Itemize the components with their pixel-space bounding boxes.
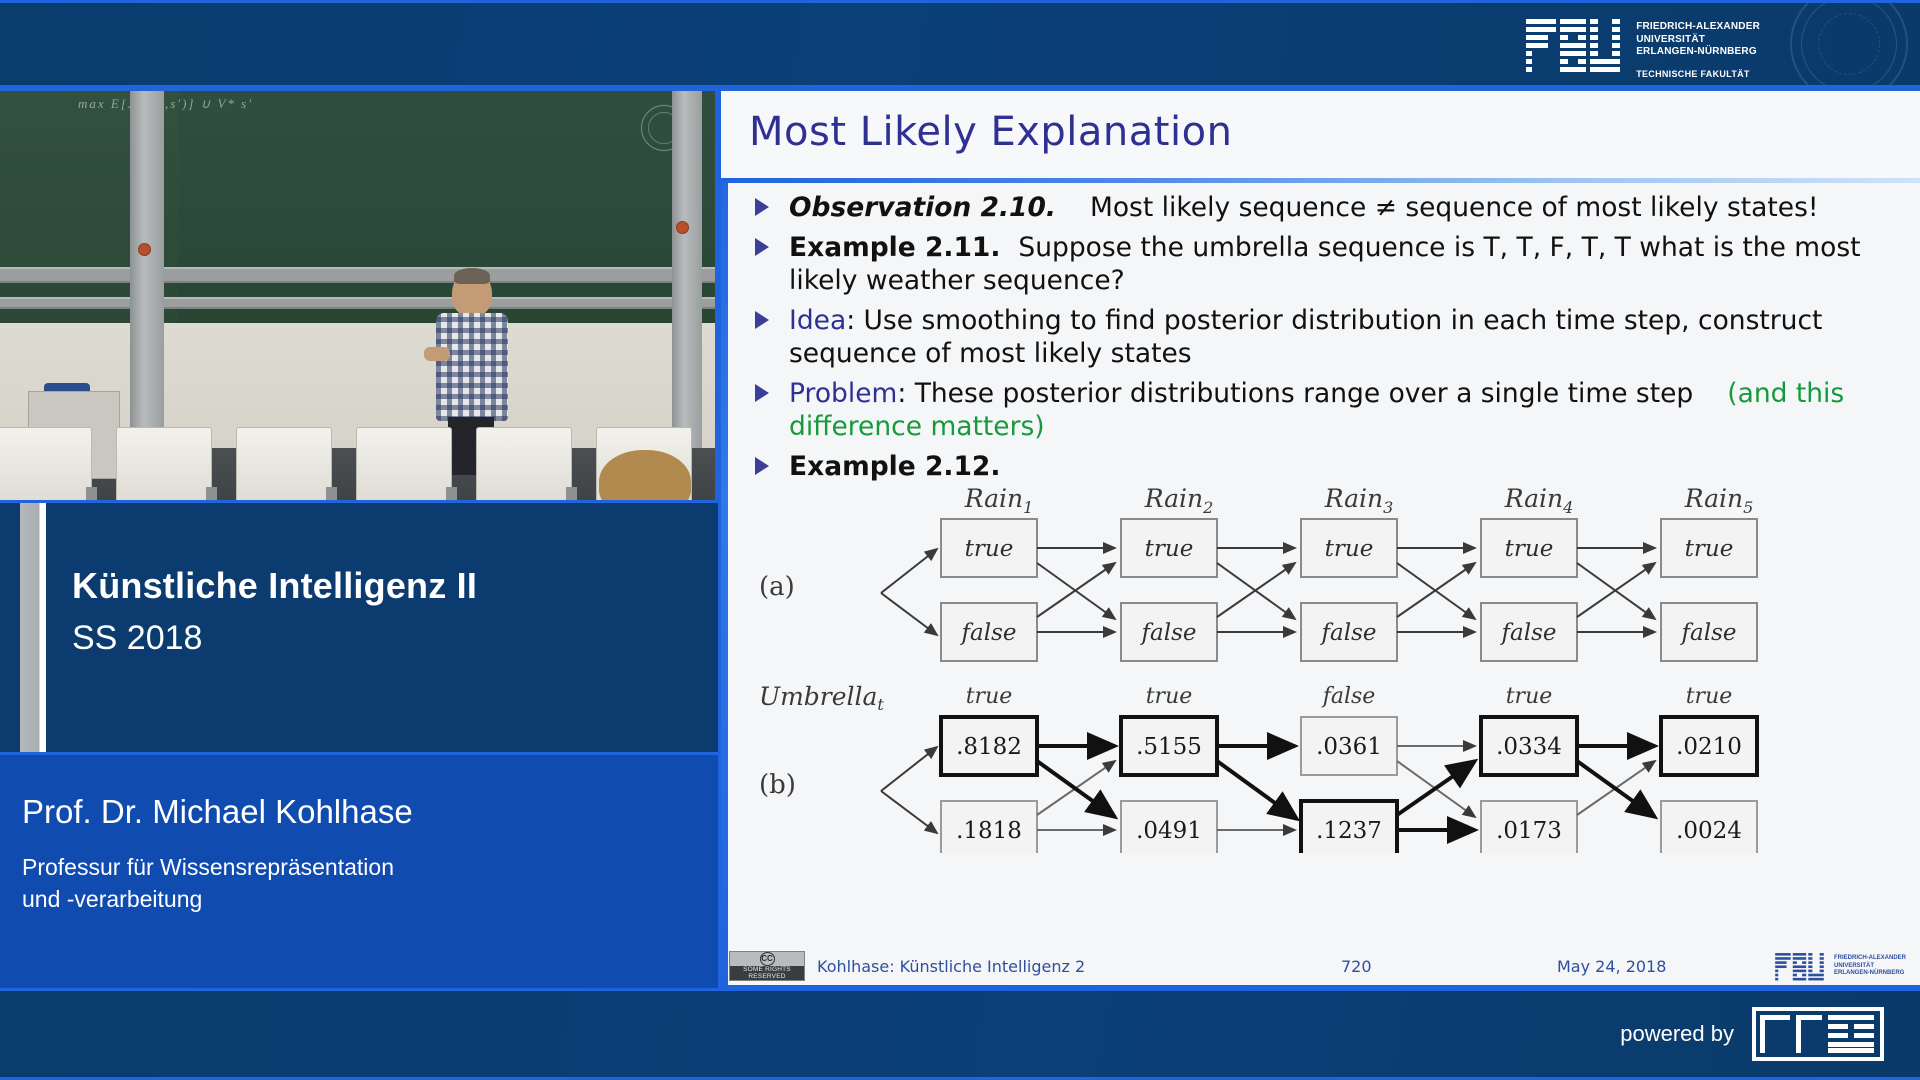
- lecturer-plaid-shirt: [436, 313, 508, 421]
- bullet-keyword: Example 2.12.: [789, 451, 1000, 482]
- svg-text:true: true: [1145, 536, 1194, 562]
- prob-t1-false: .1818: [956, 818, 1022, 844]
- footer-university-name: FRIEDRICH-ALEXANDER UNIVERSITÄT ERLANGEN…: [1834, 952, 1906, 978]
- prob-t2-true: .5155: [1136, 734, 1202, 760]
- umbrella-evidence-1: true: [966, 684, 1013, 709]
- bullet-triangle-icon: [755, 238, 769, 256]
- bullet-example-2-12: Example 2.12.: [741, 450, 1910, 483]
- footer-page-number: 720: [1341, 957, 1372, 976]
- accent-strip: [20, 503, 46, 752]
- seat-leg: [86, 487, 97, 503]
- footer-date: May 24, 2018: [1557, 957, 1666, 976]
- svg-text:false: false: [1680, 620, 1737, 646]
- course-title-panel: Künstliche Intelligenz II SS 2018: [0, 503, 718, 755]
- presenter-affiliation: Professur für Wissensrepräsentation und …: [22, 851, 394, 915]
- fau-logo-icon: [1526, 17, 1622, 75]
- seat-leg: [566, 487, 577, 503]
- bullet-text: : These posterior distributions range ov…: [897, 378, 1693, 409]
- presenter-name: Prof. Dr. Michael Kohlhase: [22, 793, 413, 831]
- bullet-problem: Problem: These posterior distributions r…: [741, 377, 1910, 443]
- prob-t3-true: .0361: [1316, 734, 1382, 760]
- powered-by-label: powered by: [1620, 1021, 1734, 1047]
- seat-leg: [326, 487, 337, 503]
- bullet-idea: Idea: Use smoothing to find posterior di…: [741, 304, 1910, 370]
- footer-fau-logo: FRIEDRICH-ALEXANDER UNIVERSITÄT ERLANGEN…: [1772, 952, 1906, 982]
- svg-text:false: false: [1140, 620, 1197, 646]
- column-label-rain1: Rain1: [964, 484, 1034, 517]
- umbrella-evidence-5: true: [1686, 684, 1733, 709]
- prob-t1-true: .8182: [956, 734, 1022, 760]
- seat-leg: [206, 487, 217, 503]
- umbrella-evidence-4: true: [1506, 684, 1553, 709]
- seat-row-item: [476, 427, 572, 503]
- university-name: FRIEDRICH-ALEXANDER UNIVERSITÄT ERLANGEN…: [1636, 17, 1760, 59]
- prob-t5-false: .0024: [1676, 818, 1742, 844]
- svg-text:true: true: [1505, 536, 1554, 562]
- board-rail-upper: [0, 267, 715, 283]
- svg-text:false: false: [960, 620, 1017, 646]
- page-header: FRIEDRICH-ALEXANDER UNIVERSITÄT ERLANGEN…: [0, 0, 1920, 88]
- viterbi-trellis-figure: Rain1 Rain2 Rain3 Rain4 Rain5 (a): [741, 483, 1901, 853]
- presenter-panel: Prof. Dr. Michael Kohlhase Professur für…: [0, 755, 718, 988]
- course-term: SS 2018: [72, 619, 202, 658]
- bullet-text: Most likely sequence ≠ sequence of most …: [1090, 192, 1819, 223]
- footer-author: Kohlhase: Künstliche Intelligenz 2: [817, 957, 1085, 976]
- pillar-right: [672, 91, 702, 448]
- prob-t4-true: .0334: [1496, 734, 1562, 760]
- slide-title-rule: [721, 178, 1920, 183]
- column-label-rain4: Rain4: [1504, 484, 1574, 517]
- seat-row-item: [116, 427, 212, 503]
- creative-commons-badge-icon: CC SOME RIGHTS RESERVED: [729, 951, 805, 981]
- lecturer-head: [452, 271, 492, 317]
- pillar-left: [130, 91, 164, 448]
- svg-text:true: true: [965, 536, 1014, 562]
- bullet-observation-2-10: Observation 2.10.Most likely sequence ≠ …: [741, 191, 1910, 224]
- seat-row-item: [356, 427, 452, 503]
- bullet-keyword: Observation 2.10.: [789, 192, 1056, 223]
- column-label-rain2: Rain2: [1144, 484, 1214, 517]
- page-footer-bar: powered by: [0, 988, 1920, 1080]
- slide-content: Observation 2.10.Most likely sequence ≠ …: [741, 191, 1910, 490]
- umbrella-evidence-2: true: [1146, 684, 1193, 709]
- lecturer-arm: [424, 347, 450, 361]
- student-head: [599, 450, 691, 503]
- slide-title: Most Likely Explanation: [749, 109, 1232, 155]
- lecture-recording-page: FRIEDRICH-ALEXANDER UNIVERSITÄT ERLANGEN…: [0, 0, 1920, 1080]
- faculty-name: TECHNISCHE FAKULTÄT: [1636, 69, 1760, 79]
- rrze-logo-icon: [1752, 1007, 1884, 1061]
- umbrella-evidence-3: false: [1321, 684, 1376, 709]
- trellis-svg: Rain1 Rain2 Rain3 Rain4 Rain5 (a): [741, 483, 1901, 853]
- university-seal-icon: [1790, 0, 1908, 88]
- fau-logo-icon: [1772, 952, 1828, 982]
- svg-text:true: true: [1685, 536, 1734, 562]
- bullet-triangle-icon: [755, 198, 769, 216]
- board-rail-lower: [0, 297, 715, 309]
- bullet-example-2-11: Example 2.11.Suppose the umbrella sequen…: [741, 231, 1910, 297]
- lecture-video[interactable]: max E[X(s,a,s')] ∪ V* s': [0, 88, 718, 503]
- bullet-triangle-icon: [755, 384, 769, 402]
- umbrella-row-label: Umbrellat: [759, 682, 884, 714]
- column-label-rain3: Rain3: [1324, 484, 1394, 517]
- bullet-text: : Use smoothing to find posterior distri…: [789, 305, 1822, 369]
- seat-leg: [446, 487, 457, 503]
- bullet-keyword: Idea: [789, 305, 846, 336]
- umbrella-evidence-row: true true false true true: [966, 684, 1733, 709]
- license-text: SOME RIGHTS RESERVED: [730, 966, 804, 980]
- prob-t3-false: .1237: [1316, 818, 1382, 844]
- chalkboard-writing: max E[X(s,a,s')] ∪ V* s': [78, 96, 253, 112]
- seat-row-item: [0, 427, 92, 503]
- slide-footer: CC SOME RIGHTS RESERVED Kohlhase: Künstl…: [721, 951, 1920, 985]
- panel-b-label: (b): [759, 770, 796, 800]
- slide-left-accent: [721, 91, 728, 985]
- prob-t5-true: .0210: [1676, 734, 1742, 760]
- fau-branding: FRIEDRICH-ALEXANDER UNIVERSITÄT ERLANGEN…: [1526, 17, 1760, 79]
- column-label-rain5: Rain5: [1684, 484, 1754, 517]
- svg-text:false: false: [1320, 620, 1377, 646]
- bullet-keyword: Example 2.11.: [789, 232, 1000, 263]
- prob-t2-false: .0491: [1136, 818, 1202, 844]
- rail-knob-left: [138, 243, 151, 256]
- rail-knob-right: [676, 221, 689, 234]
- prob-t4-false: .0173: [1496, 818, 1562, 844]
- cc-glyph: CC: [760, 952, 775, 966]
- seat-row-item: [236, 427, 332, 503]
- bullet-triangle-icon: [755, 457, 769, 475]
- presentation-slide[interactable]: Most Likely Explanation Observation 2.10…: [718, 88, 1920, 988]
- svg-text:true: true: [1325, 536, 1374, 562]
- svg-text:false: false: [1500, 620, 1557, 646]
- rrze-glyph: [1756, 1011, 1880, 1057]
- bullet-keyword: Problem: [789, 378, 897, 409]
- course-title: Künstliche Intelligenz II: [72, 565, 477, 607]
- slide-title-bar: Most Likely Explanation: [721, 91, 1920, 183]
- panel-a-label: (a): [759, 572, 795, 602]
- bullet-triangle-icon: [755, 311, 769, 329]
